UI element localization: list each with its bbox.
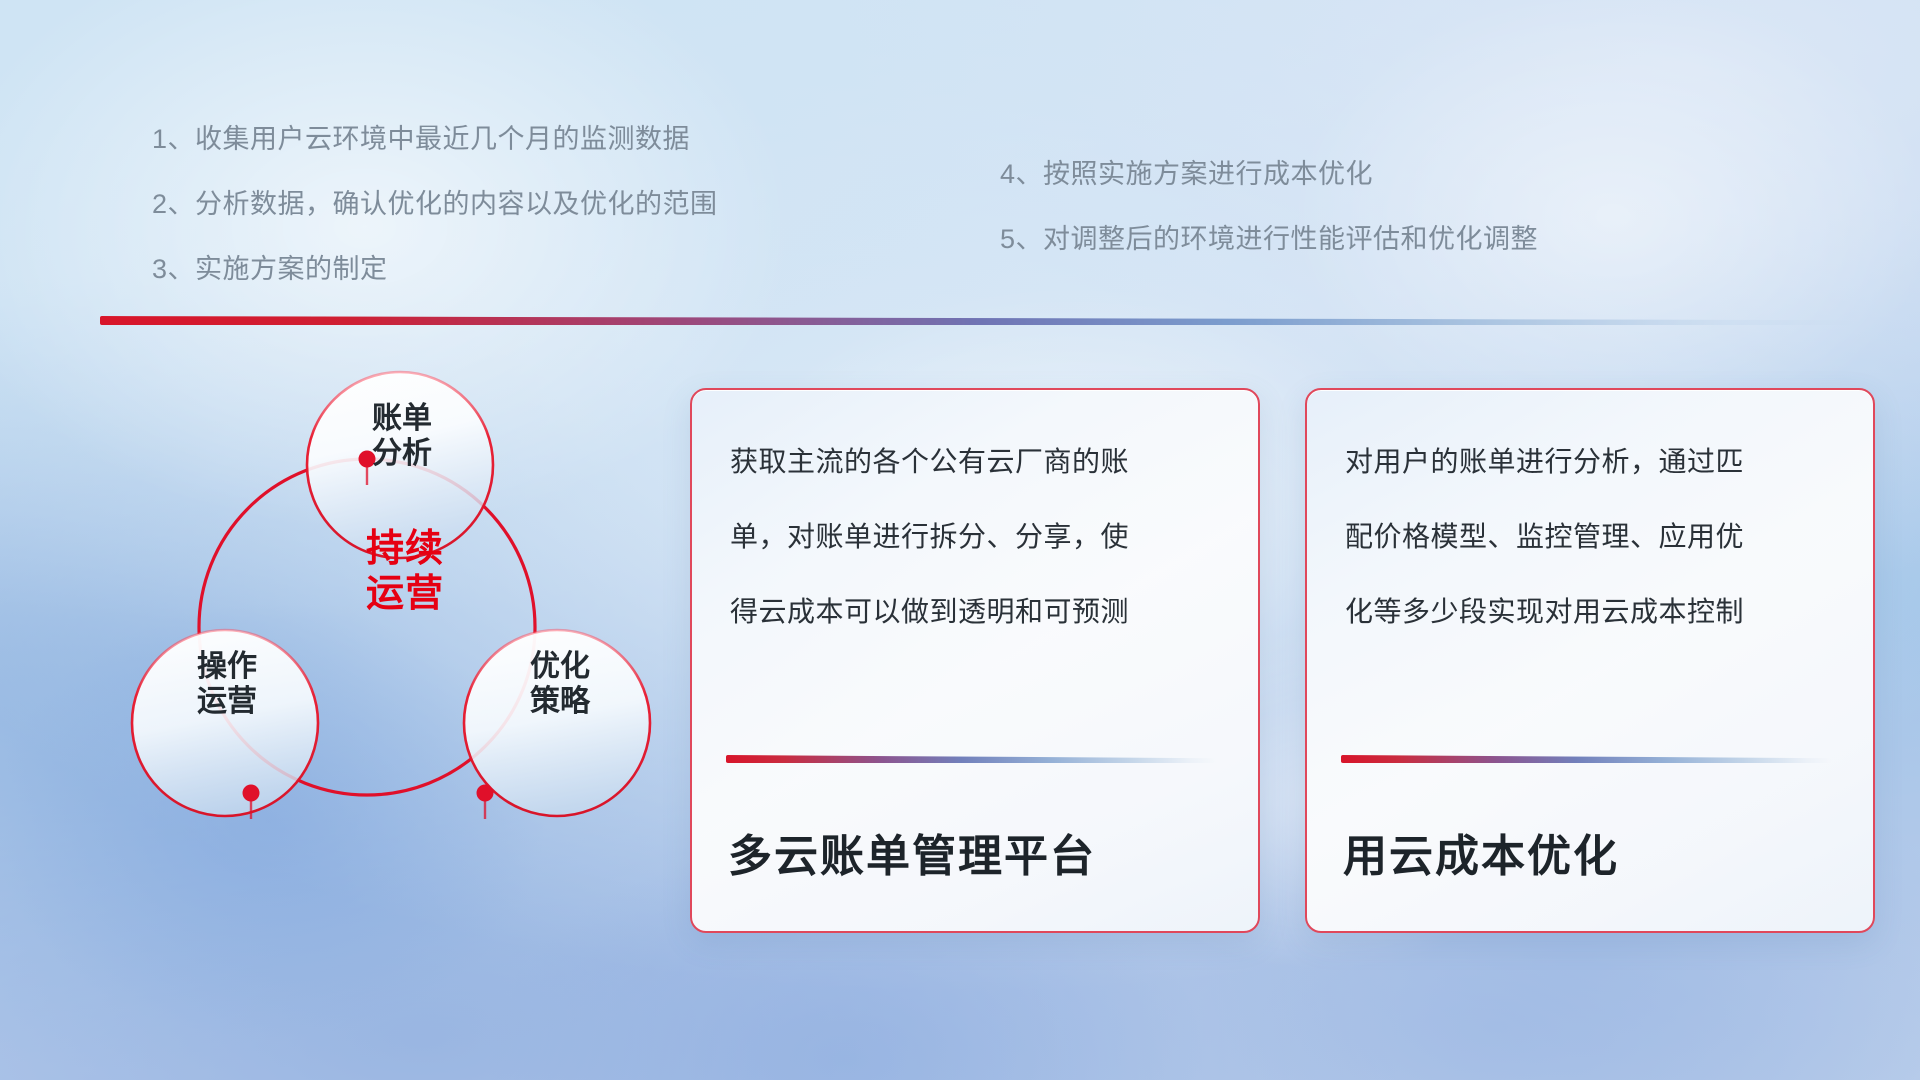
venn-dot-left [243, 785, 260, 802]
bullet-item-5: 5、对调整后的环境进行性能评估和优化调整 [1000, 226, 1538, 253]
bullet-list-right: 4、按照实施方案进行成本优化 5、对调整后的环境进行性能评估和优化调整 [1000, 161, 1538, 291]
card-left-line-1: 获取主流的各个公有云厂商的账 [730, 448, 1228, 476]
card-left-body: 获取主流的各个公有云厂商的账 单，对账单进行拆分、分享，使 得云成本可以做到透明… [730, 448, 1228, 673]
bullet-item-4: 4、按照实施方案进行成本优化 [1000, 161, 1538, 188]
card-left-title: 多云账单管理平台 [728, 820, 1238, 884]
venn-label-strategy-line1: 优化 [485, 649, 635, 684]
venn-label-operations: 操作 运营 [152, 649, 302, 720]
card-left-rule [726, 755, 1216, 763]
section-divider [100, 316, 1860, 325]
card-right-rule [1341, 755, 1831, 763]
venn-label-operations-line2: 运营 [152, 684, 302, 719]
divider-bar [100, 316, 1860, 325]
card-right-body: 对用户的账单进行分析，通过匹 配价格模型、监控管理、应用优 化等多少段实现对用云… [1345, 448, 1843, 673]
venn-label-billing: 账单 分析 [327, 401, 477, 472]
venn-label-billing-line1: 账单 [327, 401, 477, 436]
venn-label-strategy: 优化 策略 [485, 649, 635, 720]
bullet-item-3: 3、实施方案的制定 [152, 256, 718, 283]
venn-label-center-line1: 持续 [330, 527, 480, 572]
card-cloud-cost-optimization: 对用户的账单进行分析，通过匹 配价格模型、监控管理、应用优 化等多少段实现对用云… [1305, 388, 1875, 933]
venn-dot-right [477, 785, 494, 802]
venn-label-center: 持续 运营 [330, 527, 480, 617]
card-left-line-3: 得云成本可以做到透明和可预测 [730, 598, 1228, 626]
card-right-line-1: 对用户的账单进行分析，通过匹 [1345, 448, 1843, 476]
card-right-title: 用云成本优化 [1343, 820, 1853, 884]
venn-label-strategy-line2: 策略 [485, 684, 635, 719]
venn-label-operations-line1: 操作 [152, 649, 302, 684]
card-right-line-2: 配价格模型、监控管理、应用优 [1345, 523, 1843, 551]
venn-label-billing-line2: 分析 [327, 436, 477, 471]
venn-label-center-line2: 运营 [330, 572, 480, 617]
bullet-item-1: 1、收集用户云环境中最近几个月的监测数据 [152, 126, 718, 153]
bullet-list-left: 1、收集用户云环境中最近几个月的监测数据 2、分析数据，确认优化的内容以及优化的… [152, 126, 718, 321]
card-multicloud-billing: 获取主流的各个公有云厂商的账 单，对账单进行拆分、分享，使 得云成本可以做到透明… [690, 388, 1260, 933]
card-right-line-3: 化等多少段实现对用云成本控制 [1345, 598, 1843, 626]
card-left-line-2: 单，对账单进行拆分、分享，使 [730, 523, 1228, 551]
bullet-item-2: 2、分析数据，确认优化的内容以及优化的范围 [152, 191, 718, 218]
venn-diagram: 账单 分析 操作 运营 优化 策略 持续 运营 [95, 355, 655, 935]
